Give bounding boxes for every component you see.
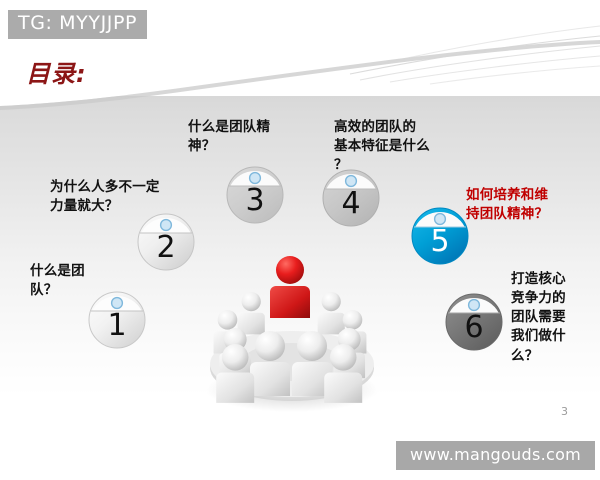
leader-figure bbox=[270, 256, 310, 318]
agenda-item-2-label: 为什么人多不一定 力量就大？ bbox=[50, 178, 200, 216]
slide-page-number: 3 bbox=[561, 405, 568, 418]
agenda-item-6-number: 6 bbox=[464, 310, 483, 345]
agenda-item-6-label: 打造核心 竞争力的 团队需要 我们做什 么？ bbox=[511, 270, 595, 366]
agenda-item-4-label: 高效的团队的 基本特征是什么 ？ bbox=[334, 118, 464, 175]
agenda-item-3-label: 什么是团队精 神？ bbox=[188, 118, 318, 156]
agenda-item-5-number: 5 bbox=[430, 224, 449, 259]
site-watermark: www.mangouds.com bbox=[396, 441, 595, 470]
agenda-item-5-badge[interactable]: 5 bbox=[411, 207, 469, 265]
agenda-item-6-badge[interactable]: 6 bbox=[445, 293, 503, 351]
page-title: 目录: bbox=[26, 54, 87, 89]
agenda-item-3-number: 3 bbox=[245, 183, 264, 218]
tg-watermark-badge: TG: MYYJJPP bbox=[8, 10, 147, 39]
team-circle-illustration bbox=[196, 240, 388, 412]
agenda-item-5-label: 如何培养和维 持团队精神？ bbox=[466, 186, 590, 224]
agenda-item-2-number: 2 bbox=[156, 230, 175, 265]
slide-canvas: TG: MYYJJPP 目录: bbox=[0, 0, 600, 480]
agenda-item-1-badge[interactable]: 1 bbox=[88, 291, 146, 349]
agenda-item-2-badge[interactable]: 2 bbox=[137, 213, 195, 271]
agenda-item-4-number: 4 bbox=[341, 186, 360, 221]
agenda-item-1-number: 1 bbox=[107, 308, 126, 343]
agenda-item-4-badge[interactable]: 4 bbox=[322, 169, 380, 227]
agenda-item-3-badge[interactable]: 3 bbox=[226, 166, 284, 224]
